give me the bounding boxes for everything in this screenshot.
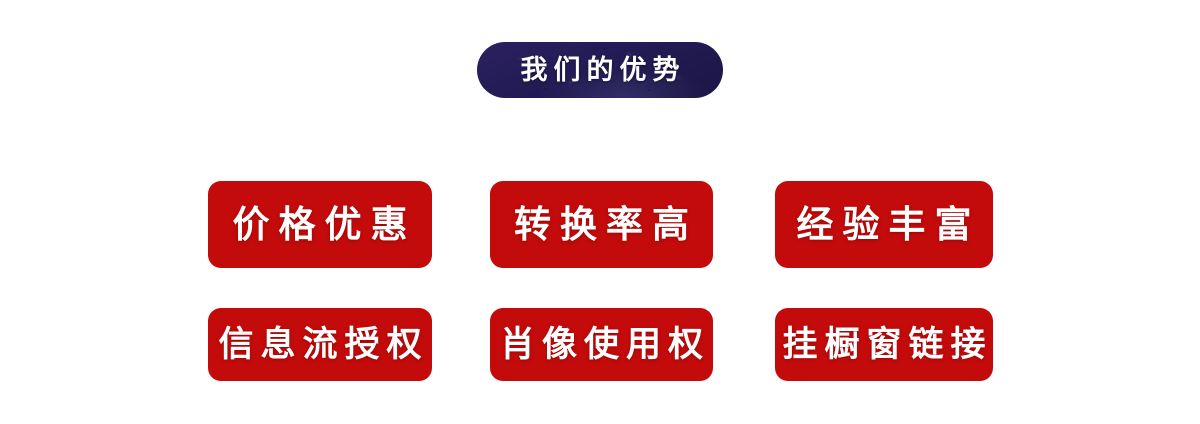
feature-button-feed-authorization[interactable]: 信息流授权 (208, 308, 432, 381)
feature-button-price[interactable]: 价格优惠 (208, 181, 432, 268)
feature-button-conversion[interactable]: 转换率高 (490, 181, 713, 268)
feature-button-showcase-link[interactable]: 挂橱窗链接 (775, 308, 993, 381)
feature-button-experience[interactable]: 经验丰富 (775, 181, 993, 268)
feature-button-label: 价格优惠 (224, 206, 417, 243)
feature-button-label: 信息流授权 (211, 327, 428, 362)
feature-button-label: 肖像使用权 (493, 327, 710, 362)
feature-button-label: 经验丰富 (788, 206, 981, 243)
feature-button-label: 转换率高 (505, 206, 698, 243)
promo-banner: 我们的优势 价格优惠 转换率高 经验丰富 信息流授权 肖像使用权 挂橱窗链接 (0, 0, 1200, 424)
feature-button-label: 挂橱窗链接 (775, 327, 992, 362)
feature-button-portrait-rights[interactable]: 肖像使用权 (490, 308, 713, 381)
feature-grid: 价格优惠 转换率高 经验丰富 信息流授权 肖像使用权 挂橱窗链接 (0, 0, 1200, 424)
